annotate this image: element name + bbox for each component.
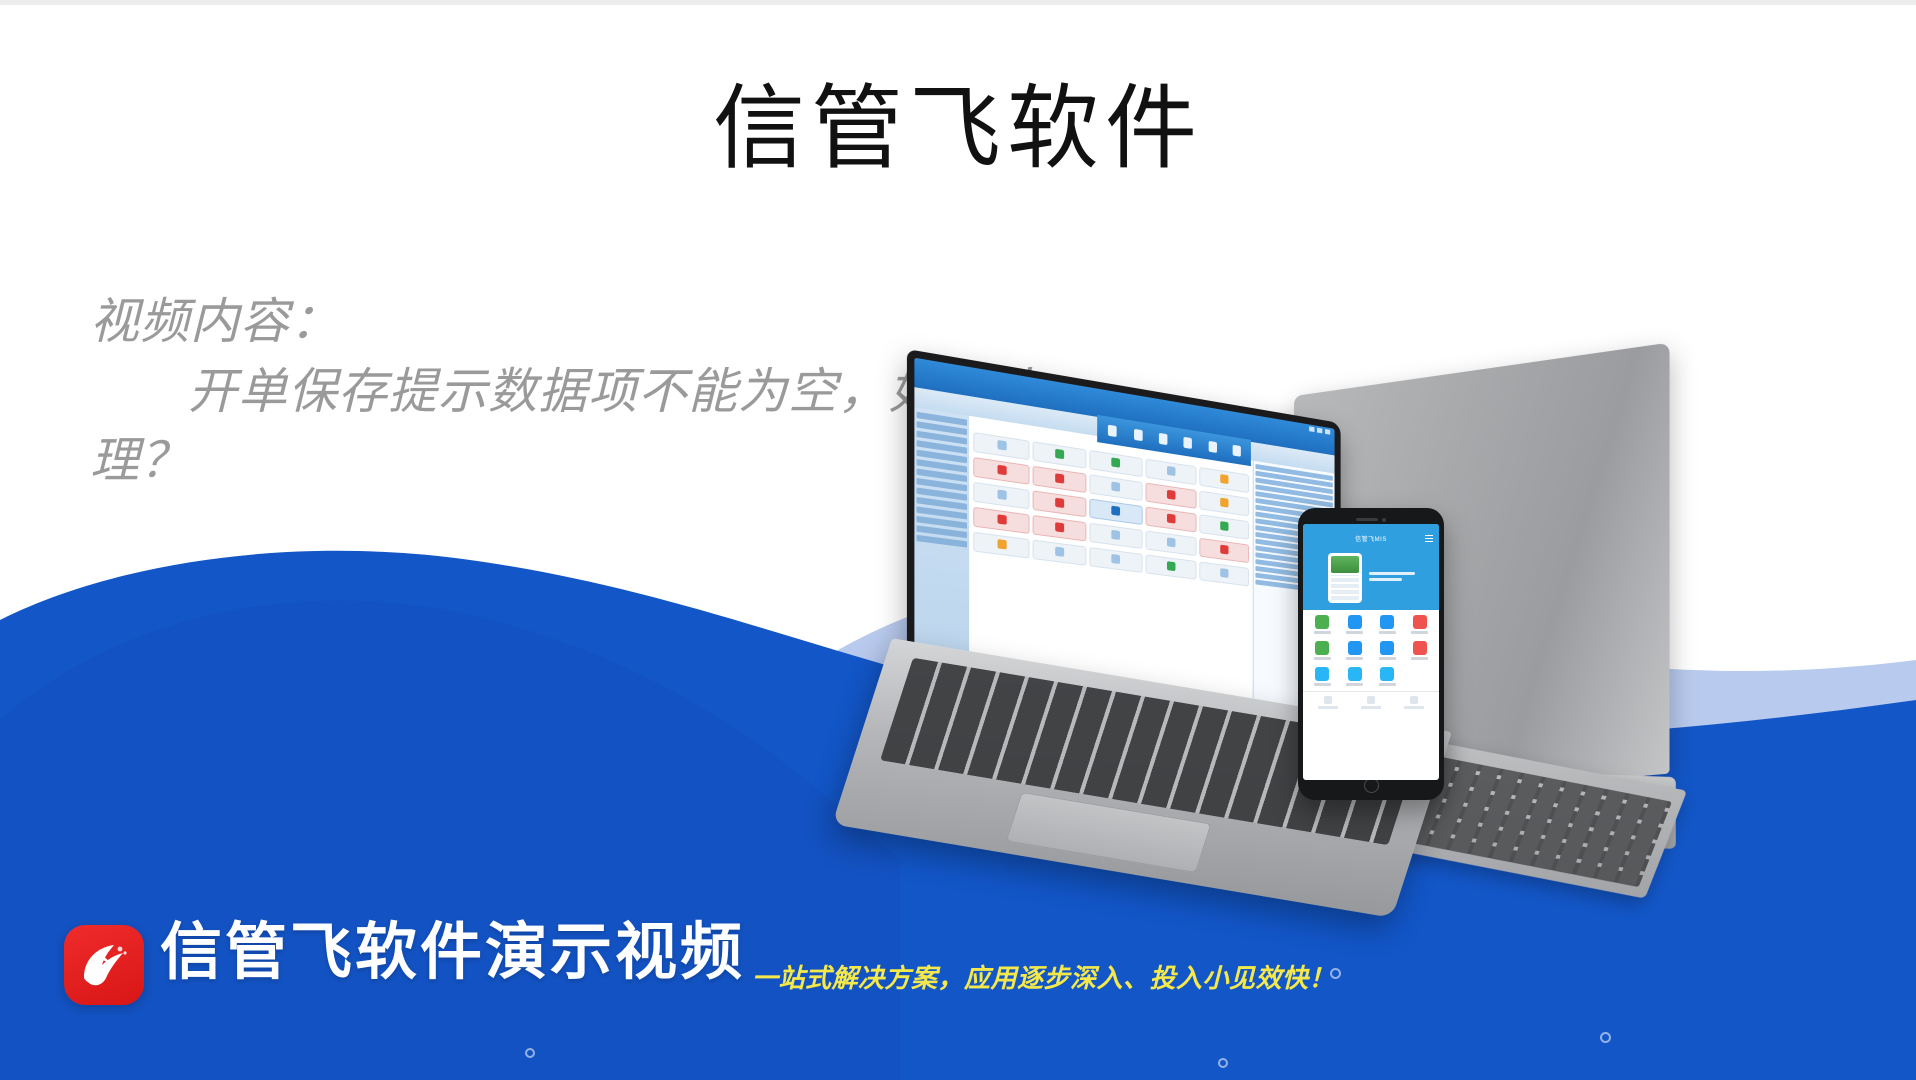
phone-status-bar bbox=[1303, 524, 1439, 531]
phone-summary-row bbox=[1303, 691, 1439, 713]
decorative-dot bbox=[1330, 968, 1341, 979]
module-icon bbox=[1145, 531, 1196, 557]
module-icon bbox=[1032, 491, 1086, 518]
toolbar-icon bbox=[1184, 437, 1192, 449]
phone-app-icon bbox=[1413, 641, 1427, 655]
phone-hero-device-icon bbox=[1328, 553, 1362, 603]
phone-app-tile bbox=[1340, 667, 1371, 686]
module-icon bbox=[1199, 562, 1249, 587]
phone-app-icon bbox=[1380, 667, 1394, 681]
module-icon bbox=[1145, 555, 1196, 580]
module-icon bbox=[1199, 538, 1249, 563]
phone-summary-value bbox=[1410, 696, 1418, 704]
device-mockup-group: 信管飞MIS bbox=[880, 380, 1916, 960]
module-icon bbox=[1199, 467, 1249, 493]
module-icon bbox=[974, 532, 1030, 559]
phone-app-icon bbox=[1315, 667, 1329, 681]
phone-app-tile bbox=[1340, 641, 1371, 660]
phone-app-icon bbox=[1315, 615, 1329, 629]
module-icon bbox=[974, 432, 1030, 460]
phone-app-tile bbox=[1372, 641, 1403, 660]
phone-app-label bbox=[1379, 683, 1396, 686]
hamburger-menu-icon bbox=[1425, 538, 1433, 540]
decorative-dot bbox=[1218, 1058, 1228, 1068]
phone-app-tile bbox=[1405, 615, 1436, 634]
phone-hero-text-line bbox=[1369, 578, 1402, 581]
decorative-dot bbox=[1600, 1032, 1611, 1043]
phone-home-button-icon bbox=[1303, 780, 1439, 791]
phone-app-label bbox=[1314, 631, 1331, 634]
phone-app-label bbox=[1314, 683, 1331, 686]
phone-app-tile bbox=[1340, 615, 1371, 634]
phone-app-icon bbox=[1380, 641, 1394, 655]
phone-hero-banner bbox=[1303, 546, 1439, 610]
phone-speaker-slot bbox=[1356, 518, 1378, 521]
footer-tagline: 一站式解决方案，应用逐步深入、投入小见效快！ bbox=[752, 958, 1335, 995]
phone-app-tile bbox=[1405, 667, 1436, 686]
module-icon bbox=[1145, 459, 1196, 486]
phone-app-label bbox=[1346, 683, 1363, 686]
phone-app-icon bbox=[1348, 641, 1362, 655]
phone-hero-text-line bbox=[1369, 572, 1415, 575]
decorative-dot bbox=[525, 1048, 535, 1058]
module-icon bbox=[1089, 523, 1142, 549]
module-icon bbox=[1199, 515, 1249, 541]
phone-app-icon bbox=[1348, 667, 1362, 681]
phone-summary-cell bbox=[1350, 696, 1393, 709]
footer-brand-title: 信管飞软件演示视频 bbox=[160, 922, 745, 984]
phone-app-header: 信管飞MIS bbox=[1303, 531, 1439, 546]
window-controls-icon bbox=[1309, 426, 1332, 435]
phone-summary-cell bbox=[1307, 696, 1350, 709]
brand-logo bbox=[64, 925, 144, 1005]
phone-app-tile bbox=[1372, 615, 1403, 634]
phone-summary-label bbox=[1361, 706, 1381, 709]
phone-app-icon bbox=[1348, 615, 1362, 629]
video-content-label: 视频内容： bbox=[90, 288, 1160, 358]
phone-app-tile bbox=[1405, 641, 1436, 660]
module-icon bbox=[1145, 507, 1196, 533]
phone-hero-image bbox=[1331, 556, 1359, 573]
toolbar-icon bbox=[1208, 441, 1216, 453]
module-icon bbox=[1032, 466, 1086, 493]
toolbar-icon bbox=[1232, 445, 1240, 457]
phone-app-label bbox=[1314, 657, 1331, 660]
phone-summary-value bbox=[1324, 696, 1332, 704]
xinguanfei-bird-logo-icon bbox=[64, 925, 144, 1005]
module-icon bbox=[1089, 450, 1142, 477]
toolbar-icon bbox=[1134, 429, 1143, 441]
module-icon bbox=[1032, 442, 1086, 470]
phone-screen: 信管飞MIS bbox=[1303, 524, 1439, 780]
module-icon bbox=[1032, 515, 1086, 542]
phone-summary-cell bbox=[1392, 696, 1435, 709]
phone-summary-label bbox=[1318, 706, 1338, 709]
phone-app-tile bbox=[1307, 667, 1338, 686]
home-circle bbox=[1364, 778, 1379, 793]
phone-app-tile bbox=[1372, 667, 1403, 686]
toolbar-icon bbox=[1159, 433, 1168, 445]
module-icon bbox=[974, 457, 1030, 485]
phone-app-icon bbox=[1380, 615, 1394, 629]
phone-app-label bbox=[1379, 657, 1396, 660]
phone-app-label bbox=[1379, 631, 1396, 634]
phone-app-label bbox=[1411, 631, 1428, 634]
phone-earpiece-icon bbox=[1303, 515, 1439, 524]
phone-summary-label bbox=[1404, 706, 1424, 709]
phone-app-label bbox=[1346, 631, 1363, 634]
phone-app-icon bbox=[1413, 615, 1427, 629]
phone-camera-dot bbox=[1382, 518, 1386, 522]
module-icon bbox=[1089, 547, 1142, 573]
page-title: 信管飞软件 bbox=[0, 78, 1916, 181]
phone-app-icon bbox=[1315, 641, 1329, 655]
phone-app-label bbox=[1346, 657, 1363, 660]
module-icon bbox=[1199, 491, 1249, 517]
phone-app-title: 信管飞MIS bbox=[1355, 534, 1387, 543]
phone-app-tile bbox=[1307, 641, 1338, 660]
phone-hero-text bbox=[1369, 572, 1415, 584]
module-icon bbox=[974, 482, 1030, 509]
module-icon bbox=[1145, 483, 1196, 509]
phone-summary-value bbox=[1367, 696, 1375, 704]
phone-app-grid bbox=[1303, 610, 1439, 691]
phone-app-tile bbox=[1307, 615, 1338, 634]
module-icon bbox=[1089, 499, 1142, 526]
phone-app-label bbox=[1411, 657, 1428, 660]
phone-hero-lines bbox=[1331, 575, 1359, 600]
smartphone-mockup: 信管飞MIS bbox=[1298, 508, 1444, 800]
module-icon bbox=[974, 507, 1030, 534]
module-icon bbox=[1089, 475, 1142, 502]
toolbar-icon bbox=[1108, 425, 1117, 437]
module-icon bbox=[1032, 540, 1086, 566]
slide-root: 信管飞软件 视频内容： 开单保存提示数据项不能为空，如何处 理？ bbox=[0, 0, 1916, 1080]
